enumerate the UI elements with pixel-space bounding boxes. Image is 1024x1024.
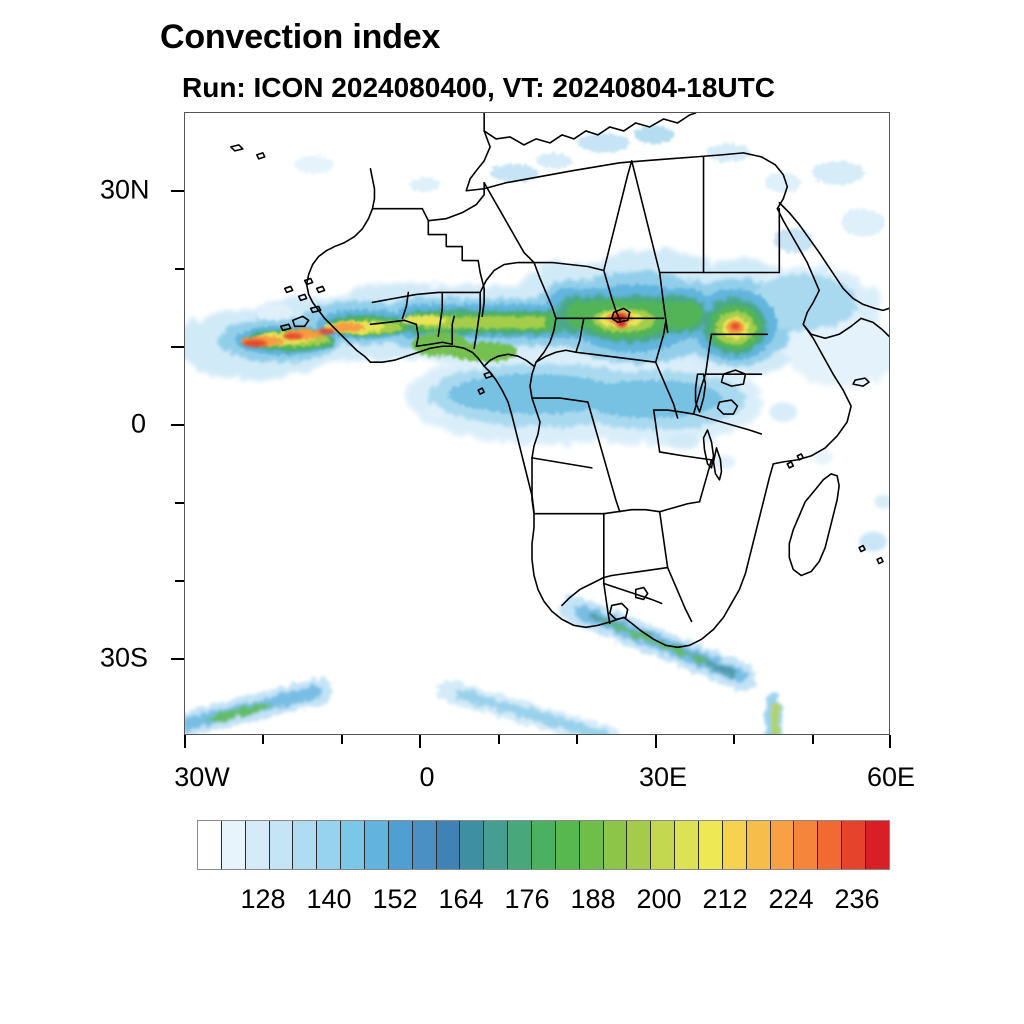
colorbar-cell [627, 821, 651, 869]
run-valid-time-subtitle: Run: ICON 2024080400, VT: 20240804-18UTC [182, 72, 775, 104]
xtick-0 [419, 735, 421, 748]
xtick-20w [262, 735, 264, 744]
colorbar-cell [460, 821, 484, 869]
colorbar-cell [246, 821, 270, 869]
xtick-40e [733, 735, 735, 744]
colorbar-cell [341, 821, 365, 869]
colorbar-cell [413, 821, 437, 869]
colorbar-cell [293, 821, 317, 869]
xtick-60e [889, 735, 891, 748]
colorbar-cell [437, 821, 461, 869]
colorbar-cell [866, 821, 889, 869]
xtick-10w [341, 735, 343, 744]
colorbar-label: 236 [834, 884, 879, 915]
colorbar-cell [699, 821, 723, 869]
colorbar-label: 224 [768, 884, 813, 915]
figure-root: Convection index Run: ICON 2024080400, V… [0, 0, 1024, 1024]
colorbar-label: 140 [306, 884, 351, 915]
xlabel-60e: 60E [867, 762, 915, 793]
xlabel-30w: 30W [174, 762, 230, 793]
xtick-30w [184, 735, 186, 748]
ylabel-30s: 30S [100, 643, 148, 674]
colorbar-label: 212 [702, 884, 747, 915]
xtick-30e [655, 735, 657, 748]
xtick-10e [498, 735, 500, 744]
colorbar-cell [365, 821, 389, 869]
xlabel-30e: 30E [639, 762, 687, 793]
xtick-20e [576, 735, 578, 744]
colorbar-cell [580, 821, 604, 869]
colorbar-label: 152 [372, 884, 417, 915]
ytick-30n [171, 190, 184, 192]
colorbar-cell [604, 821, 628, 869]
map-plot-area [184, 112, 890, 735]
colorbar-cell [508, 821, 532, 869]
colorbar-cell [771, 821, 795, 869]
colorbar-cell [389, 821, 413, 869]
colorbar-cell [222, 821, 246, 869]
xtick-50e [812, 735, 814, 744]
ytick-minor-b [175, 580, 184, 582]
colorbar-cell [747, 821, 771, 869]
colorbar-cell [842, 821, 866, 869]
colorbar-cell [556, 821, 580, 869]
colorbar-cell [794, 821, 818, 869]
colorbar-label: 164 [438, 884, 483, 915]
colorbar-cell [675, 821, 699, 869]
colorbar-cell [532, 821, 556, 869]
ytick-minor-a [171, 346, 184, 348]
map-canvas [185, 113, 889, 734]
colorbar-label: 200 [636, 884, 681, 915]
colorbar-cell [484, 821, 508, 869]
ylabel-30n: 30N [100, 175, 150, 206]
ylabel-0: 0 [131, 409, 146, 440]
colorbar-label: 188 [570, 884, 615, 915]
colorbar-cell [270, 821, 294, 869]
colorbar-cell [651, 821, 675, 869]
ytick-15n [175, 268, 184, 270]
ytick-15s [175, 502, 184, 504]
ytick-30s [171, 658, 184, 660]
colorbar-cell [818, 821, 842, 869]
colorbar-cell [317, 821, 341, 869]
xlabel-0: 0 [419, 762, 434, 793]
colorbar-cell [198, 821, 222, 869]
colorbar-cell [723, 821, 747, 869]
colorbar-label: 128 [240, 884, 285, 915]
colorbar[interactable] [197, 820, 890, 870]
ytick-0 [171, 424, 184, 426]
page-title: Convection index [160, 18, 440, 57]
colorbar-label: 176 [504, 884, 549, 915]
